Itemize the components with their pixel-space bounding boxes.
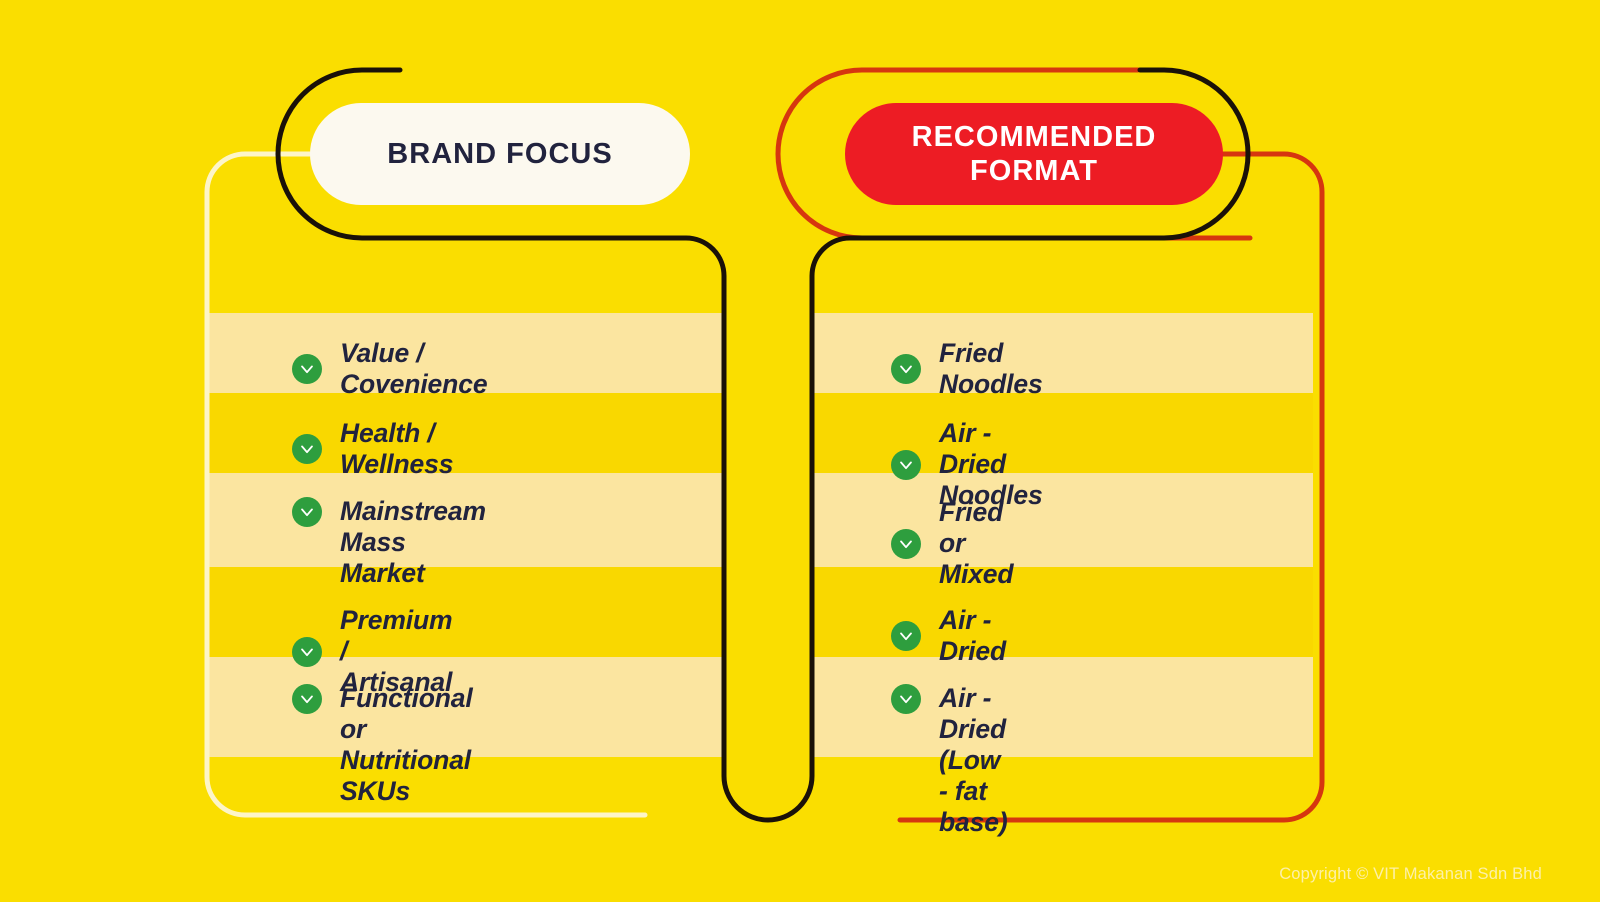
stripe-right-3	[812, 473, 1313, 567]
stripe-left-2	[208, 393, 725, 473]
list-item-label: Air - Dried (Low - fat base)	[939, 683, 1008, 838]
list-item-label: Air - Dried	[939, 605, 1006, 667]
list-item-label: Health / Wellness	[340, 418, 453, 480]
check-circle-icon	[891, 450, 921, 480]
header-label-recommended-format-line2: FORMAT	[912, 154, 1157, 188]
stripe-right-1	[812, 313, 1313, 393]
header-pill-brand-focus[interactable]: BRAND FOCUS	[310, 103, 690, 205]
list-item[interactable]: Fried or Mixed	[891, 497, 1013, 590]
list-item-label: Value / Covenience	[340, 338, 487, 400]
list-item[interactable]: Mainstream Mass Market	[292, 496, 486, 589]
header-pill-recommended-format[interactable]: RECOMMENDED FORMAT	[845, 103, 1223, 205]
check-circle-icon	[891, 684, 921, 714]
check-circle-icon	[292, 684, 322, 714]
copyright-text: Copyright © VIT Makanan Sdn Bhd	[1279, 865, 1542, 884]
list-item[interactable]: Air - Dried (Low - fat base)	[891, 683, 1008, 838]
list-item[interactable]: Health / Wellness	[292, 418, 453, 480]
list-item[interactable]: Functional or Nutritional SKUs	[292, 683, 473, 807]
check-circle-icon	[292, 434, 322, 464]
check-circle-icon	[891, 354, 921, 384]
check-circle-icon	[292, 497, 322, 527]
list-item[interactable]: Fried Noodles	[891, 338, 1043, 400]
list-item-label: Fried Noodles	[939, 338, 1043, 400]
stripe-right-2	[812, 393, 1313, 473]
header-label-recommended-format-line1: RECOMMENDED	[912, 120, 1157, 154]
list-item-label: Mainstream Mass Market	[340, 496, 486, 589]
check-circle-icon	[891, 621, 921, 651]
list-item-label: Functional or Nutritional SKUs	[340, 683, 473, 807]
check-circle-icon	[891, 529, 921, 559]
check-circle-icon	[292, 637, 322, 667]
stripe-right-5	[812, 657, 1313, 757]
list-item[interactable]: Value / Covenience	[292, 338, 487, 400]
header-label-brand-focus: BRAND FOCUS	[387, 138, 612, 171]
stripe-right-4	[812, 567, 1313, 657]
list-item[interactable]: Air - Dried	[891, 605, 1006, 667]
check-circle-icon	[292, 354, 322, 384]
infographic-canvas: BRAND FOCUS RECOMMENDED FORMAT Value / C…	[0, 0, 1600, 902]
list-item-label: Fried or Mixed	[939, 497, 1013, 590]
